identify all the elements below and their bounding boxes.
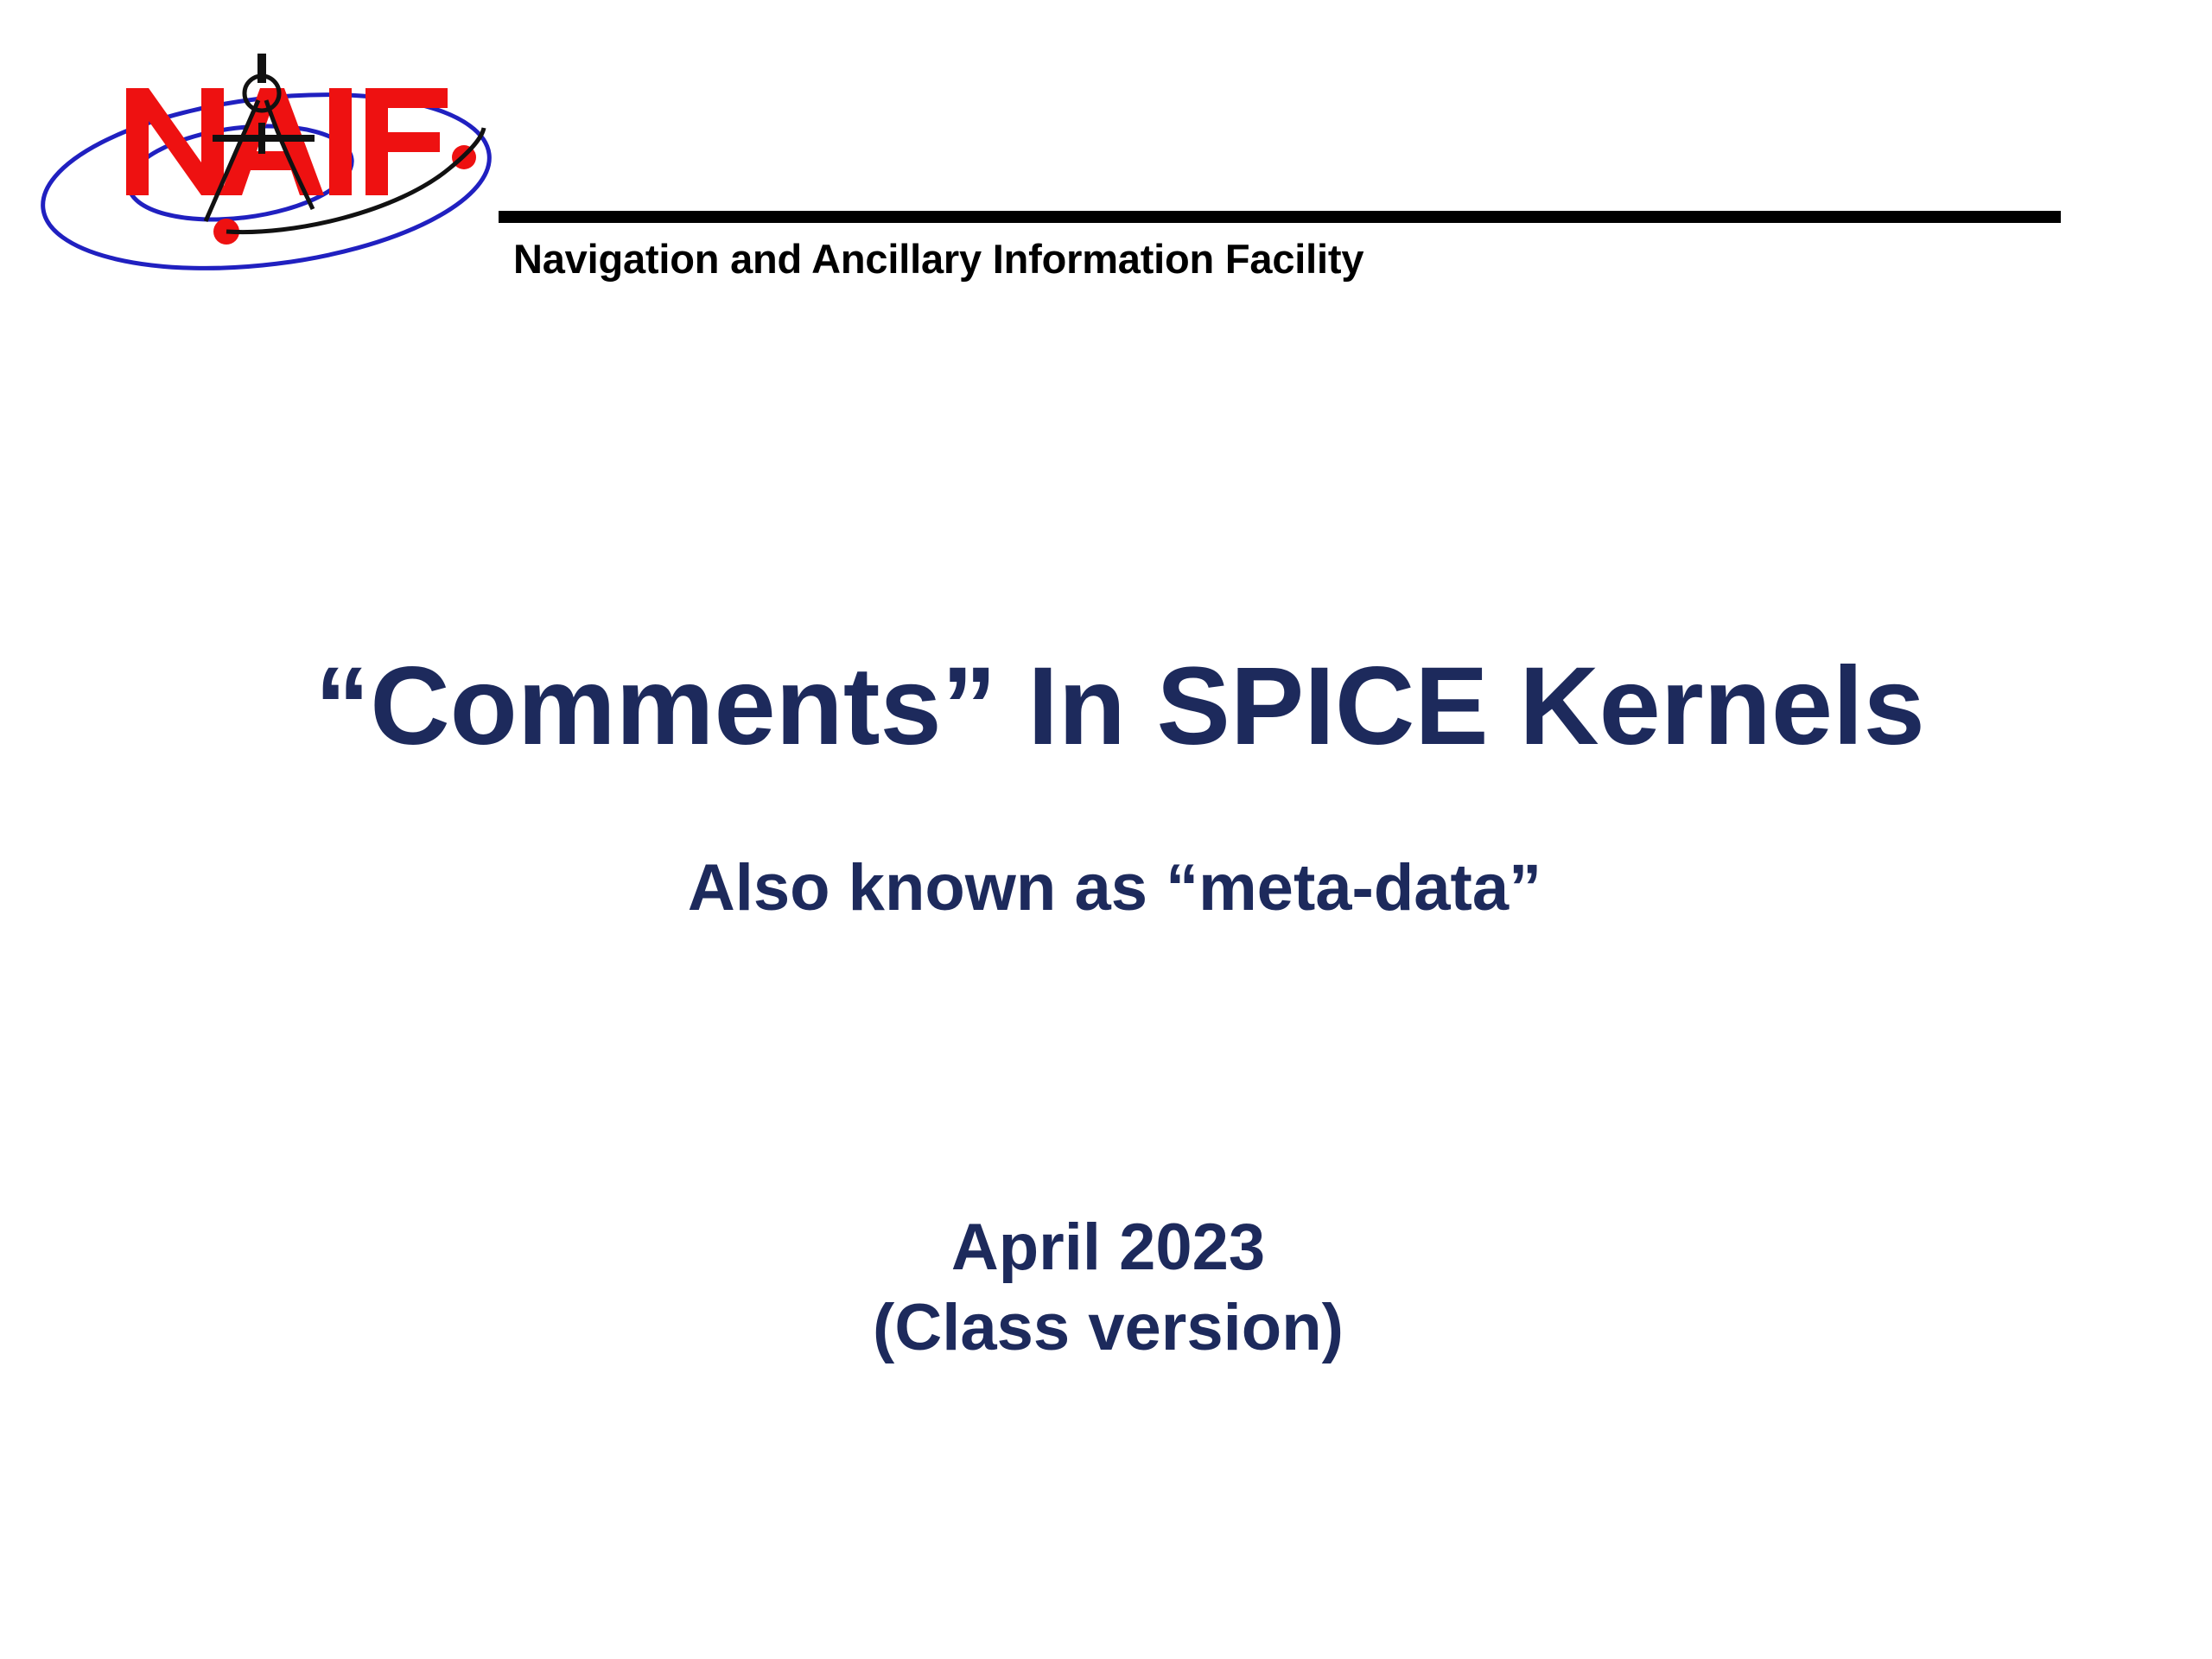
page-subtitle: Also known as “meta-data” (0, 851, 2212, 925)
slide-canvas: Navigation and Ancillary Information Fac… (0, 0, 2212, 1659)
date-line-month-year: April 2023 (0, 1208, 2212, 1288)
date-line-version: (Class version) (0, 1288, 2212, 1369)
slide-body: “Comments” In SPICE Kernels Also known a… (0, 0, 2212, 1659)
date-block: April 2023 (Class version) (0, 1208, 2212, 1368)
page-title: “Comments” In SPICE Kernels (0, 645, 2212, 768)
